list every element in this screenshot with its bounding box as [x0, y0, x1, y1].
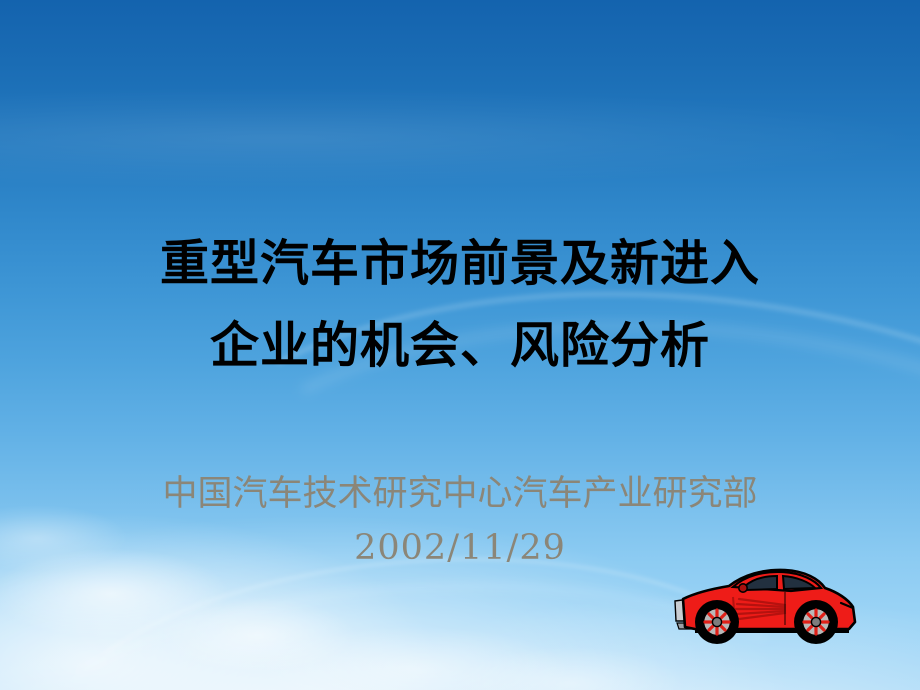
slide-title: 重型汽车市场前景及新进入 企业的机会、风险分析 [0, 222, 920, 386]
slide-subtitle: 中国汽车技术研究中心汽车产业研究部 2002/11/29 [0, 466, 920, 573]
front-wheel [794, 600, 838, 644]
title-line-2: 企业的机会、风险分析 [0, 304, 920, 386]
title-line-1: 重型汽车市场前景及新进入 [0, 222, 920, 304]
subtitle-organization: 中国汽车技术研究中心汽车产业研究部 [0, 466, 920, 523]
rear-wheel [695, 600, 739, 644]
red-sports-car-icon [673, 559, 859, 651]
title-slide: 重型汽车市场前景及新进入 企业的机会、风险分析 中国汽车技术研究中心汽车产业研究… [0, 0, 920, 690]
